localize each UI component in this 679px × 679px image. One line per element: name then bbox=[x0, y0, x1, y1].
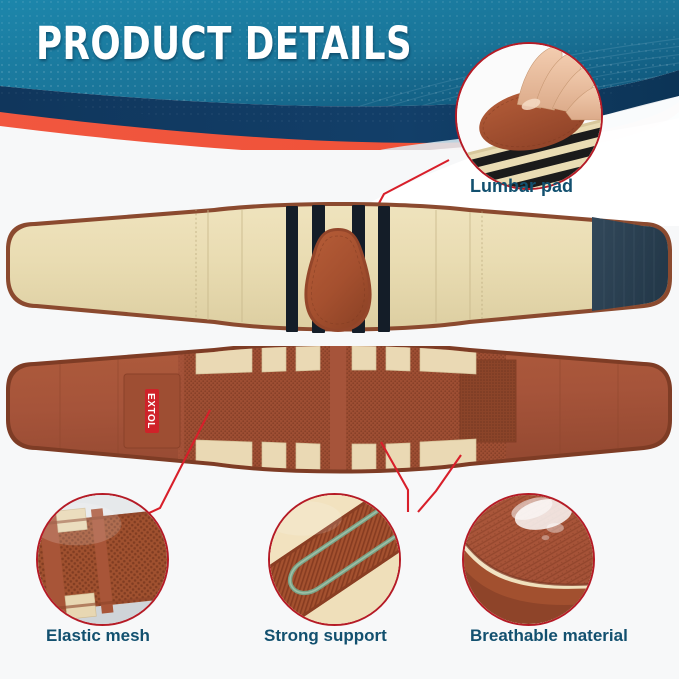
callout-strong-support[interactable] bbox=[268, 493, 401, 626]
callout-label-lumbar-pad: Lumbar pad bbox=[470, 176, 573, 197]
callout-label-strong-support: Strong support bbox=[264, 626, 387, 646]
callout-label-elastic-mesh: Elastic mesh bbox=[46, 626, 150, 646]
product-belt-inner bbox=[0, 196, 679, 346]
callout-lumbar-pad[interactable] bbox=[455, 42, 603, 190]
callout-elastic-mesh[interactable] bbox=[36, 493, 169, 626]
infographic-canvas: PRODUCT DETAILS bbox=[0, 0, 679, 679]
callout-breathable-material[interactable] bbox=[462, 493, 595, 626]
lumbar-pad-photo bbox=[457, 44, 601, 188]
breathable-material-photo bbox=[464, 495, 593, 624]
brand-label: EXTOL bbox=[124, 374, 180, 448]
elastic-mesh-photo bbox=[38, 495, 167, 624]
page-title: PRODUCT DETAILS bbox=[36, 20, 412, 68]
strong-support-photo bbox=[270, 495, 399, 624]
svg-text:EXTOL: EXTOL bbox=[145, 393, 156, 429]
product-belt-outer: EXTOL bbox=[0, 346, 679, 476]
callout-label-breathable-material: Breathable material bbox=[470, 626, 628, 646]
